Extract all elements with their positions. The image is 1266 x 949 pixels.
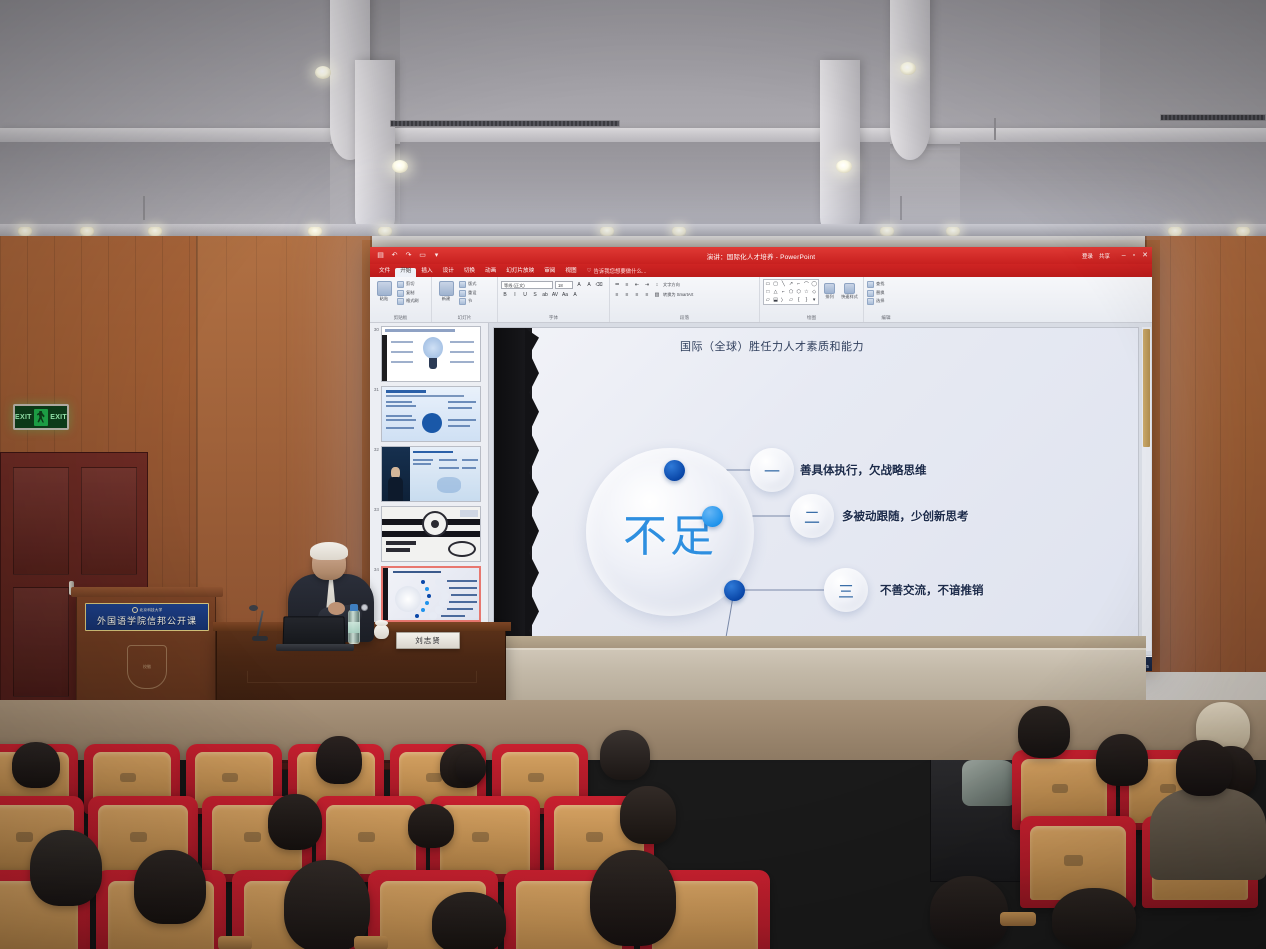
node-2 bbox=[702, 506, 723, 527]
numeral-2: 二 bbox=[804, 504, 820, 528]
paste-icon bbox=[377, 281, 392, 296]
line-spacing-icon[interactable]: ↕ bbox=[653, 281, 661, 289]
audience-head bbox=[600, 730, 650, 780]
numeral-circle-2: 二 bbox=[790, 494, 834, 538]
thumbnail-item[interactable]: 33 bbox=[372, 506, 486, 562]
shape-oval-icon[interactable]: ◯ bbox=[810, 280, 818, 288]
thumb-number: 31 bbox=[372, 386, 379, 392]
shape-diamond-icon[interactable]: ◇ bbox=[810, 288, 818, 296]
audience-seating bbox=[0, 700, 1266, 949]
slides-group-label: 幻灯片 bbox=[435, 316, 494, 322]
audience-head bbox=[134, 850, 206, 924]
tab-animations[interactable]: 动画 bbox=[480, 268, 501, 277]
thumbnail-33[interactable] bbox=[381, 506, 481, 562]
numeral-1: 一 bbox=[764, 458, 780, 482]
bullets-icon[interactable]: ≔ bbox=[613, 281, 621, 289]
node-3 bbox=[724, 580, 745, 601]
podium-org-text: 北京科技大学 bbox=[140, 608, 163, 613]
presenter-hair bbox=[310, 542, 348, 560]
character-spacing-icon[interactable]: AV bbox=[551, 291, 559, 299]
university-emblem-icon bbox=[132, 607, 138, 613]
ribbon-group-slides: 新建 版式 重设 bbox=[432, 277, 498, 322]
quick-styles-icon bbox=[844, 283, 855, 294]
reset-label: 重设 bbox=[468, 291, 476, 295]
share-label[interactable]: 共享 bbox=[1099, 252, 1110, 260]
seat-armrest bbox=[1000, 912, 1036, 926]
podium-top bbox=[71, 587, 223, 597]
thumbnail-30[interactable] bbox=[381, 326, 481, 382]
find-button[interactable]: 查找 bbox=[867, 281, 884, 288]
shape-round-icon[interactable]: ▢ bbox=[772, 280, 780, 288]
drawing-group-label: 绘图 bbox=[763, 316, 860, 322]
select-label: 选择 bbox=[876, 299, 884, 303]
track-light bbox=[148, 227, 162, 236]
thumb-number: 33 bbox=[372, 506, 379, 512]
track-light bbox=[18, 227, 32, 236]
new-slide-button[interactable]: 新建 bbox=[435, 279, 457, 301]
current-slide[interactable]: 国际（全球）胜任力人才素质和能力 bbox=[493, 327, 1139, 651]
audience-head bbox=[590, 850, 676, 946]
ceiling-air-grille bbox=[390, 120, 620, 127]
align-left-icon[interactable]: ≡ bbox=[613, 291, 621, 299]
select-icon bbox=[867, 298, 874, 305]
audience-head bbox=[930, 876, 1008, 949]
tea-cup bbox=[374, 624, 389, 639]
cut-label: 剪切 bbox=[406, 282, 414, 286]
shape-callout-icon[interactable]: ▱ bbox=[787, 296, 795, 304]
scissors-icon bbox=[397, 281, 404, 288]
audience-head bbox=[30, 830, 102, 906]
thumbnail-34-selected[interactable] bbox=[381, 566, 481, 622]
italic-button[interactable]: I bbox=[511, 291, 519, 299]
clipboard-group-label: 剪贴板 bbox=[373, 316, 428, 322]
replace-icon bbox=[867, 290, 874, 297]
ceiling bbox=[0, 0, 1266, 248]
format-painter-button[interactable]: 格式刷 bbox=[397, 298, 419, 305]
section-label: 节 bbox=[468, 299, 472, 303]
track-light bbox=[946, 227, 960, 236]
laptop-screen bbox=[283, 616, 346, 646]
podium-org-line: 北京科技大学 bbox=[132, 607, 163, 613]
lightbulb-icon: ♡ bbox=[587, 268, 592, 274]
paragraph-group-label: 段落 bbox=[613, 316, 756, 322]
arrange-icon bbox=[824, 283, 835, 294]
ribbon-group-font: 等线 (正文) 18 A A ⌫ B I U S ab AV bbox=[498, 277, 610, 322]
numeral-circle-1: 一 bbox=[750, 448, 794, 492]
ribbon-group-paragraph: ≔ ≡ ⇤ ⇥ ↕ 文字方向 ≡ ≡ ≡ ≡ ▥ bbox=[610, 277, 760, 322]
audience-head bbox=[1096, 734, 1148, 786]
shape-flow-icon[interactable]: ▱ bbox=[764, 296, 772, 304]
audience-head bbox=[1018, 706, 1070, 758]
shape-cylinder-icon[interactable]: ⬓ bbox=[772, 296, 780, 304]
track-light bbox=[672, 227, 686, 236]
shape-arrow-icon[interactable]: ↗ bbox=[787, 280, 795, 288]
thumbnail-31[interactable] bbox=[381, 386, 481, 442]
ribbon-group-clipboard: 粘贴 剪切 复制 bbox=[370, 277, 432, 322]
quick-styles-label: 快速样式 bbox=[841, 295, 858, 299]
align-center-icon[interactable]: ≡ bbox=[623, 291, 631, 299]
justify-icon[interactable]: ≡ bbox=[643, 291, 651, 299]
shape-brace-icon[interactable]: } bbox=[803, 296, 811, 304]
thumb-number: 32 bbox=[372, 446, 379, 452]
tab-file[interactable]: 文件 bbox=[374, 268, 395, 277]
scrollbar-thumb[interactable] bbox=[1143, 329, 1150, 447]
podium-sign: 北京科技大学 外国语学院信邦公开课 bbox=[85, 603, 209, 631]
convert-smartart-label[interactable]: 转换为 SmartArt bbox=[663, 293, 693, 297]
text-direction-label[interactable]: 文字方向 bbox=[663, 283, 680, 287]
speaker-nameplate: 刘志贤 bbox=[396, 632, 460, 649]
tea-cup-lid bbox=[375, 620, 388, 626]
shape-star-icon[interactable]: ☆ bbox=[803, 288, 811, 296]
slide-thumbnail-pane[interactable]: 30 bbox=[370, 323, 489, 655]
thumbnail-item[interactable]: 30 bbox=[372, 326, 486, 382]
ppt-title-bar: ▤ ↶ ↷ ▭ ▾ 演讲：国际化人才培养 - PowerPoint 登录 共享 … bbox=[370, 247, 1152, 264]
underline-button[interactable]: U bbox=[521, 291, 529, 299]
ribbon-tab-strip[interactable]: 文件 开始 插入 设计 切换 动画 幻灯片放映 审阅 视图 ♡ 告诉我您想要做什… bbox=[370, 264, 1152, 277]
track-light bbox=[80, 227, 94, 236]
podium-crest: 校徽 bbox=[127, 645, 167, 689]
tab-design[interactable]: 设计 bbox=[438, 268, 459, 277]
microphone-base bbox=[252, 636, 268, 641]
reset-button[interactable]: 重设 bbox=[459, 290, 476, 297]
shape-chevron-icon[interactable]: 〉 bbox=[779, 296, 787, 304]
audience-head bbox=[456, 752, 486, 782]
track-light bbox=[600, 227, 614, 236]
paste-button[interactable]: 粘贴 bbox=[373, 279, 395, 301]
find-label: 查找 bbox=[876, 282, 884, 286]
emergency-exit-sign: EXIT EXIT bbox=[13, 404, 69, 430]
exit-label-left: EXIT bbox=[15, 414, 32, 421]
audience-head bbox=[1052, 888, 1136, 949]
font-name-input[interactable]: 等线 (正文) bbox=[501, 281, 553, 289]
tab-transitions[interactable]: 切换 bbox=[459, 268, 480, 277]
new-slide-icon bbox=[439, 281, 454, 296]
layout-icon bbox=[459, 281, 466, 288]
water-bottle-cap bbox=[350, 604, 358, 611]
shape-square-icon[interactable]: □ bbox=[764, 288, 772, 296]
increase-indent-icon[interactable]: ⇥ bbox=[643, 281, 651, 289]
shape-line-icon[interactable]: ╲ bbox=[779, 280, 787, 288]
editing-group-label: 编辑 bbox=[867, 316, 905, 322]
decrease-font-icon[interactable]: A bbox=[585, 281, 593, 289]
font-group-label: 字体 bbox=[501, 316, 606, 322]
clear-formatting-icon[interactable]: ⌫ bbox=[595, 281, 603, 289]
thumbnail-item[interactable]: 32 bbox=[372, 446, 486, 502]
presenter-hand bbox=[328, 602, 345, 615]
audience-head bbox=[620, 786, 676, 844]
thumb-number: 34 bbox=[372, 566, 379, 572]
columns-icon[interactable]: ▥ bbox=[653, 291, 661, 299]
decrease-indent-icon[interactable]: ⇤ bbox=[633, 281, 641, 289]
tab-home[interactable]: 开始 bbox=[395, 268, 416, 277]
projection-screen: ▤ ↶ ↷ ▭ ▾ 演讲：国际化人才培养 - PowerPoint 登录 共享 … bbox=[370, 247, 1152, 671]
search-icon bbox=[867, 281, 874, 288]
shape-triangle-icon[interactable]: △ bbox=[772, 288, 780, 296]
audience-head bbox=[432, 892, 506, 949]
seat-armrest bbox=[354, 936, 388, 949]
format-painter-label: 格式刷 bbox=[406, 299, 419, 303]
node-1 bbox=[664, 460, 685, 481]
shape-connector-icon[interactable]: ⌐ bbox=[795, 280, 803, 288]
presenter-lapel-badge bbox=[361, 604, 368, 611]
restore-icon[interactable]: ▫ bbox=[1133, 252, 1135, 259]
exit-label-right: EXIT bbox=[50, 414, 67, 421]
track-light bbox=[378, 227, 392, 236]
running-man-exit-icon bbox=[34, 409, 48, 426]
tell-me-search[interactable]: ♡ 告诉我您想要做什么... bbox=[582, 265, 652, 277]
thumb-number: 30 bbox=[372, 326, 379, 332]
ceiling-downlight bbox=[836, 160, 852, 173]
ceiling-downlight bbox=[900, 62, 916, 75]
font-size-input[interactable]: 18 bbox=[555, 281, 573, 289]
section-button[interactable]: 节 bbox=[459, 298, 476, 305]
audience-shoulders bbox=[1150, 788, 1266, 880]
tab-slideshow[interactable]: 幻灯片放映 bbox=[501, 268, 539, 277]
quick-styles-button[interactable]: 快速样式 bbox=[840, 281, 859, 299]
replace-label: 替换 bbox=[876, 291, 884, 295]
ceiling-air-grille bbox=[1160, 114, 1266, 121]
seat-armrest bbox=[218, 936, 252, 949]
font-color-icon[interactable]: A bbox=[571, 291, 579, 299]
increase-font-icon[interactable]: A bbox=[575, 281, 583, 289]
layout-label: 版式 bbox=[468, 282, 476, 286]
numbering-icon[interactable]: ≡ bbox=[623, 281, 631, 289]
copy-icon bbox=[397, 290, 404, 297]
new-slide-label: 新建 bbox=[442, 297, 450, 301]
layout-button[interactable]: 版式 bbox=[459, 281, 476, 288]
item-text-1: 善具体执行，欠战略思维 bbox=[800, 462, 927, 478]
audience-head bbox=[268, 794, 322, 850]
copy-label: 复制 bbox=[406, 291, 414, 295]
track-light bbox=[1236, 227, 1250, 236]
thumbnail-item[interactable]: 31 bbox=[372, 386, 486, 442]
water-bottle-label bbox=[348, 622, 360, 633]
track-light bbox=[1168, 227, 1182, 236]
ribbon[interactable]: 粘贴 剪切 复制 bbox=[370, 277, 1152, 323]
audience-head bbox=[1176, 740, 1232, 796]
numeral-3: 三 bbox=[838, 578, 854, 602]
tab-insert[interactable]: 插入 bbox=[416, 268, 437, 277]
shape-bracket-icon[interactable]: { bbox=[795, 296, 803, 304]
minimize-icon[interactable]: – bbox=[1122, 252, 1126, 259]
ceiling-downlight bbox=[315, 66, 331, 79]
item-text-3: 不善交流，不谙推销 bbox=[880, 582, 984, 598]
audience-head bbox=[408, 804, 454, 848]
change-case-icon[interactable]: Aa bbox=[561, 291, 569, 299]
shape-more-icon[interactable]: ▾ bbox=[810, 296, 818, 304]
track-light bbox=[308, 227, 322, 236]
audience-head bbox=[316, 736, 362, 784]
tell-me-label: 告诉我您想要做什么... bbox=[593, 267, 646, 275]
podium-course-title: 外国语学院信邦公开课 bbox=[97, 614, 197, 627]
replace-button[interactable]: 替换 bbox=[867, 290, 884, 297]
shape-lshape-icon[interactable]: ⌐ bbox=[779, 288, 787, 296]
powerpoint-window: ▤ ↶ ↷ ▭ ▾ 演讲：国际化人才培养 - PowerPoint 登录 共享 … bbox=[370, 247, 1152, 671]
lecture-hall-scene: EXIT EXIT ▤ ↶ ↷ ▭ ▾ 演讲：国际化人才培养 - Powe bbox=[0, 0, 1266, 949]
track-light bbox=[880, 227, 894, 236]
shape-hexagon-icon[interactable]: ⬡ bbox=[795, 288, 803, 296]
arrange-label: 排列 bbox=[825, 295, 833, 299]
account-area[interactable]: 登录 共享 bbox=[1082, 252, 1110, 260]
ppt-document-title: 演讲：国际化人才培养 - PowerPoint bbox=[370, 251, 1152, 261]
thumbnail-32[interactable] bbox=[381, 446, 481, 502]
lectern-podium: 北京科技大学 外国语学院信邦公开课 校徽 bbox=[76, 592, 216, 710]
window-controls[interactable]: – ▫ ✕ bbox=[1122, 252, 1148, 259]
close-icon[interactable]: ✕ bbox=[1142, 252, 1148, 259]
item-text-2: 多被动跟随，少创新思考 bbox=[842, 508, 969, 524]
shadow-button[interactable]: S bbox=[531, 291, 539, 299]
shape-curve-icon[interactable]: ⌒ bbox=[803, 280, 811, 288]
paste-label: 粘贴 bbox=[380, 297, 388, 301]
tab-view[interactable]: 视图 bbox=[560, 268, 581, 277]
bold-button[interactable]: B bbox=[501, 291, 509, 299]
slide-editing-area[interactable]: 国际（全球）胜任力人才素质和能力 bbox=[489, 323, 1152, 655]
shape-rect-icon[interactable]: ▭ bbox=[764, 280, 772, 288]
select-button[interactable]: 选择 bbox=[867, 298, 884, 305]
laptop-keyboard[interactable] bbox=[276, 644, 354, 651]
align-right-icon[interactable]: ≡ bbox=[633, 291, 641, 299]
microphone-head bbox=[249, 605, 258, 611]
reset-icon bbox=[459, 290, 466, 297]
paintbrush-icon bbox=[397, 298, 404, 305]
ribbon-group-editing: 查找 替换 选择 编辑 bbox=[864, 277, 908, 322]
ceiling-downlight bbox=[392, 160, 408, 173]
thumbnail-item[interactable]: 34 bbox=[372, 566, 486, 622]
strikethrough-button[interactable]: ab bbox=[541, 291, 549, 299]
wood-wall-panel-right bbox=[1145, 236, 1266, 672]
tab-review[interactable]: 审阅 bbox=[539, 268, 560, 277]
ppt-workspace: 30 bbox=[370, 323, 1152, 655]
audience-head bbox=[12, 742, 60, 788]
ribbon-group-drawing: ▭ ▢ ╲ ↗ ⌐ ⌒ ◯ □ △ ⌐ ⬠ ⬡ ☆ bbox=[760, 277, 864, 322]
section-icon bbox=[459, 298, 466, 305]
cut-button[interactable]: 剪切 bbox=[397, 281, 419, 288]
sign-in-label[interactable]: 登录 bbox=[1082, 252, 1093, 260]
arrange-button[interactable]: 排列 bbox=[821, 281, 838, 299]
shape-pentagon-icon[interactable]: ⬠ bbox=[787, 288, 795, 296]
shape-gallery[interactable]: ▭ ▢ ╲ ↗ ⌐ ⌒ ◯ □ △ ⌐ ⬠ ⬡ ☆ bbox=[763, 279, 819, 305]
copy-button[interactable]: 复制 bbox=[397, 290, 419, 297]
slide-scrollbar[interactable] bbox=[1142, 327, 1151, 651]
numeral-circle-3: 三 bbox=[824, 568, 868, 612]
